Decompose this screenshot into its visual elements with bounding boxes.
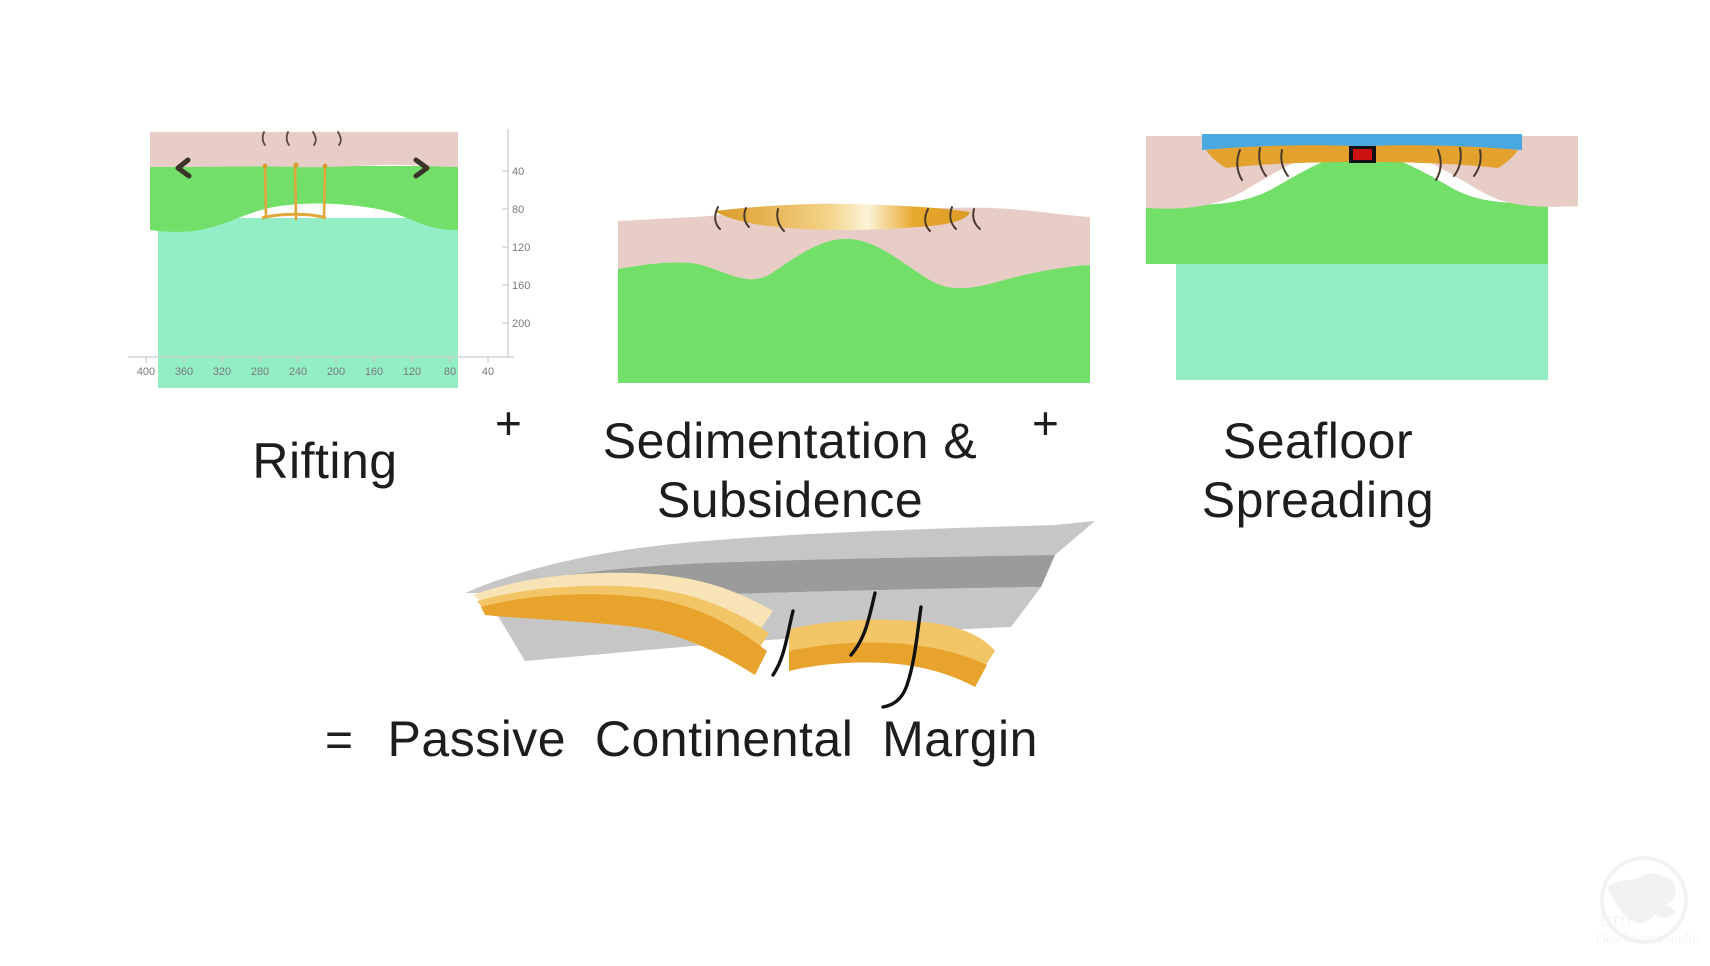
watermark: UTD GeoScienceStudio	[1584, 848, 1702, 964]
magma-chamber-core	[1353, 149, 1372, 160]
operator-plus-1: +	[495, 400, 522, 446]
operator-equals: =	[325, 713, 354, 768]
result-line: = Passive Continental Margin	[325, 710, 1225, 768]
panel-rifting	[110, 120, 570, 390]
caption-sedimentation: Sedimentation & Subsidence	[570, 412, 1010, 529]
panel-sedimentation	[618, 195, 1090, 385]
watermark-line-2: GeoScienceStudio	[1596, 932, 1699, 947]
rifting-upper-crust-layer	[150, 132, 458, 167]
sedimentation-cross-section	[618, 195, 1090, 385]
seafloor-cross-section	[1140, 128, 1585, 390]
panel-seafloor	[1140, 128, 1585, 390]
rifting-cross-section	[110, 120, 570, 390]
panel-passive-margin	[455, 515, 1115, 710]
rifting-mantle-layer	[158, 218, 458, 388]
caption-seafloor: Seafloor Spreading	[1108, 412, 1528, 529]
watermark-line-1: UTD	[1600, 914, 1631, 930]
globe-icon: UTD GeoScienceStudio	[1584, 848, 1702, 964]
result-label: Passive Continental Margin	[388, 710, 1038, 768]
caption-rifting: Rifting	[160, 432, 490, 491]
operator-plus-2: +	[1032, 400, 1059, 446]
diagram-canvas: 400 360 320 280 240 200 160 120 80 40 4	[0, 0, 1710, 966]
passive-margin-cross-section	[455, 515, 1115, 710]
